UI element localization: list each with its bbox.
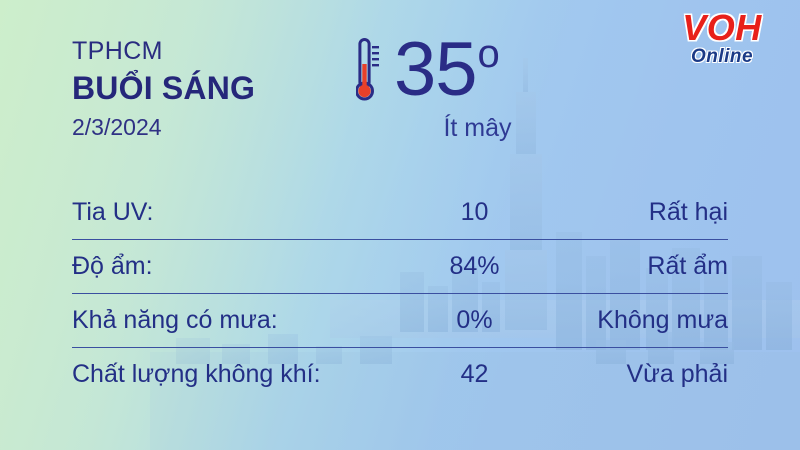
detail-value-humidity: 84% [412, 252, 537, 281]
temperature-value: 35 [394, 28, 477, 112]
temperature-block: 35 o Ít mây [356, 28, 586, 143]
voh-logo[interactable]: VOH Online [662, 8, 782, 82]
weather-condition: Ít mây [390, 114, 565, 143]
detail-desc-aqi: Vừa phải [537, 360, 728, 389]
table-row: Chất lượng không khí: 42 Vừa phải [72, 347, 728, 401]
voh-logo-brand: VOH [662, 8, 782, 48]
detail-desc-uv: Rất hại [537, 198, 728, 227]
detail-value-rain: 0% [412, 306, 537, 335]
table-row: Tia UV: 10 Rất hại [72, 186, 728, 239]
degree-symbol: o [478, 34, 500, 74]
detail-label-rain: Khả năng có mưa: [72, 306, 412, 335]
thermometer-icon [356, 36, 382, 104]
detail-label-aqi: Chất lượng không khí: [72, 360, 412, 389]
table-row: Khả năng có mưa: 0% Không mưa [72, 293, 728, 347]
temperature-row: 35 o [356, 28, 586, 116]
table-row: Độ ẩm: 84% Rất ẩm [72, 239, 728, 293]
detail-label-uv: Tia UV: [72, 198, 412, 227]
header: TPHCM BUỔI SÁNG 2/3/2024 [72, 36, 372, 141]
detail-value-aqi: 42 [412, 360, 537, 389]
period-title: BUỔI SÁNG [72, 68, 372, 108]
city-name: TPHCM [72, 36, 372, 66]
detail-desc-rain: Không mưa [537, 306, 728, 335]
voh-logo-sub: Online [662, 46, 782, 68]
detail-value-uv: 10 [412, 198, 537, 227]
detail-label-humidity: Độ ẩm: [72, 252, 412, 281]
detail-desc-humidity: Rất ẩm [537, 252, 728, 281]
date-label: 2/3/2024 [72, 113, 372, 141]
weather-card: TPHCM BUỔI SÁNG 2/3/2024 35 o Ít mây VOH… [0, 0, 800, 450]
weather-details-table: Tia UV: 10 Rất hại Độ ẩm: 84% Rất ẩm Khả… [72, 186, 728, 401]
